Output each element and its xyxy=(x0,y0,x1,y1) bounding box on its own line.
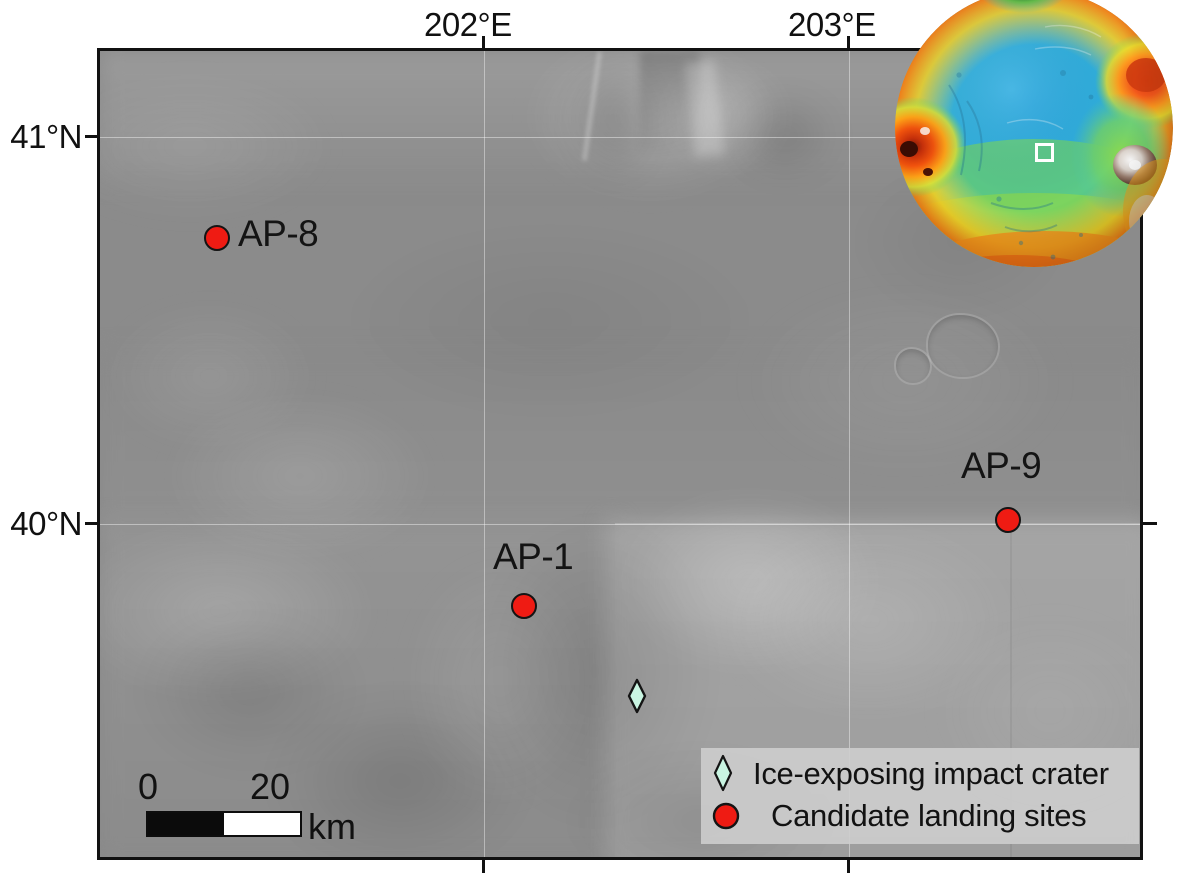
axis-label-203E: 203°E xyxy=(788,8,876,41)
tick-202E-bottom xyxy=(482,858,485,873)
legend-label-landing-sites: Candidate landing sites xyxy=(771,800,1086,831)
scale-bar-end-label: 20 xyxy=(250,769,290,805)
axis-label-202E: 202°E xyxy=(424,8,512,41)
site-label-ap-8: AP-8 xyxy=(238,215,318,252)
legend-diamond-icon xyxy=(711,752,753,794)
axis-label-40N: 40°N xyxy=(10,507,82,540)
site-label-ap-1: AP-1 xyxy=(493,538,573,575)
landing-site-dot[interactable] xyxy=(995,507,1021,533)
diamond-icon xyxy=(627,678,647,714)
legend-item-landing-sites: Candidate landing sites xyxy=(711,794,1086,836)
legend: Ice-exposing impact crater Candidate lan… xyxy=(701,748,1139,844)
tick-40N-right xyxy=(1143,522,1157,525)
axis-label-41N: 41°N xyxy=(10,120,82,153)
scale-bar-graphic xyxy=(146,811,302,837)
legend-item-ice-crater: Ice-exposing impact crater xyxy=(711,752,1109,794)
legend-label-ice-crater: Ice-exposing impact crater xyxy=(753,758,1109,789)
scale-bar-segment-empty xyxy=(224,813,300,835)
scale-bar-unit-label: km xyxy=(308,809,356,845)
tick-203E-bottom xyxy=(847,858,850,873)
landing-site-dot[interactable] xyxy=(511,593,537,619)
crater-rim-feature xyxy=(926,313,1000,379)
crater-rim-feature-small xyxy=(894,347,932,385)
scale-bar-start-label: 0 xyxy=(138,769,158,805)
mars-globe-icon xyxy=(895,0,1173,267)
tick-41N-left xyxy=(85,135,99,138)
scale-bar-segment-filled xyxy=(148,813,224,835)
gridline-202E xyxy=(484,51,485,857)
study-area-box-marker xyxy=(1035,143,1054,162)
ice-exposing-crater-marker[interactable] xyxy=(627,678,647,714)
site-label-ap-9: AP-9 xyxy=(961,447,1041,484)
mars-globe-inset xyxy=(895,0,1173,267)
gridline-203E xyxy=(849,51,850,857)
gridline-40N xyxy=(100,524,1140,525)
landing-site-dot[interactable] xyxy=(204,225,230,251)
legend-circle-icon xyxy=(711,794,753,836)
tick-40N-left xyxy=(85,522,99,525)
map-figure: AP-8 AP-9 AP-1 0 20 km xyxy=(0,0,1200,876)
